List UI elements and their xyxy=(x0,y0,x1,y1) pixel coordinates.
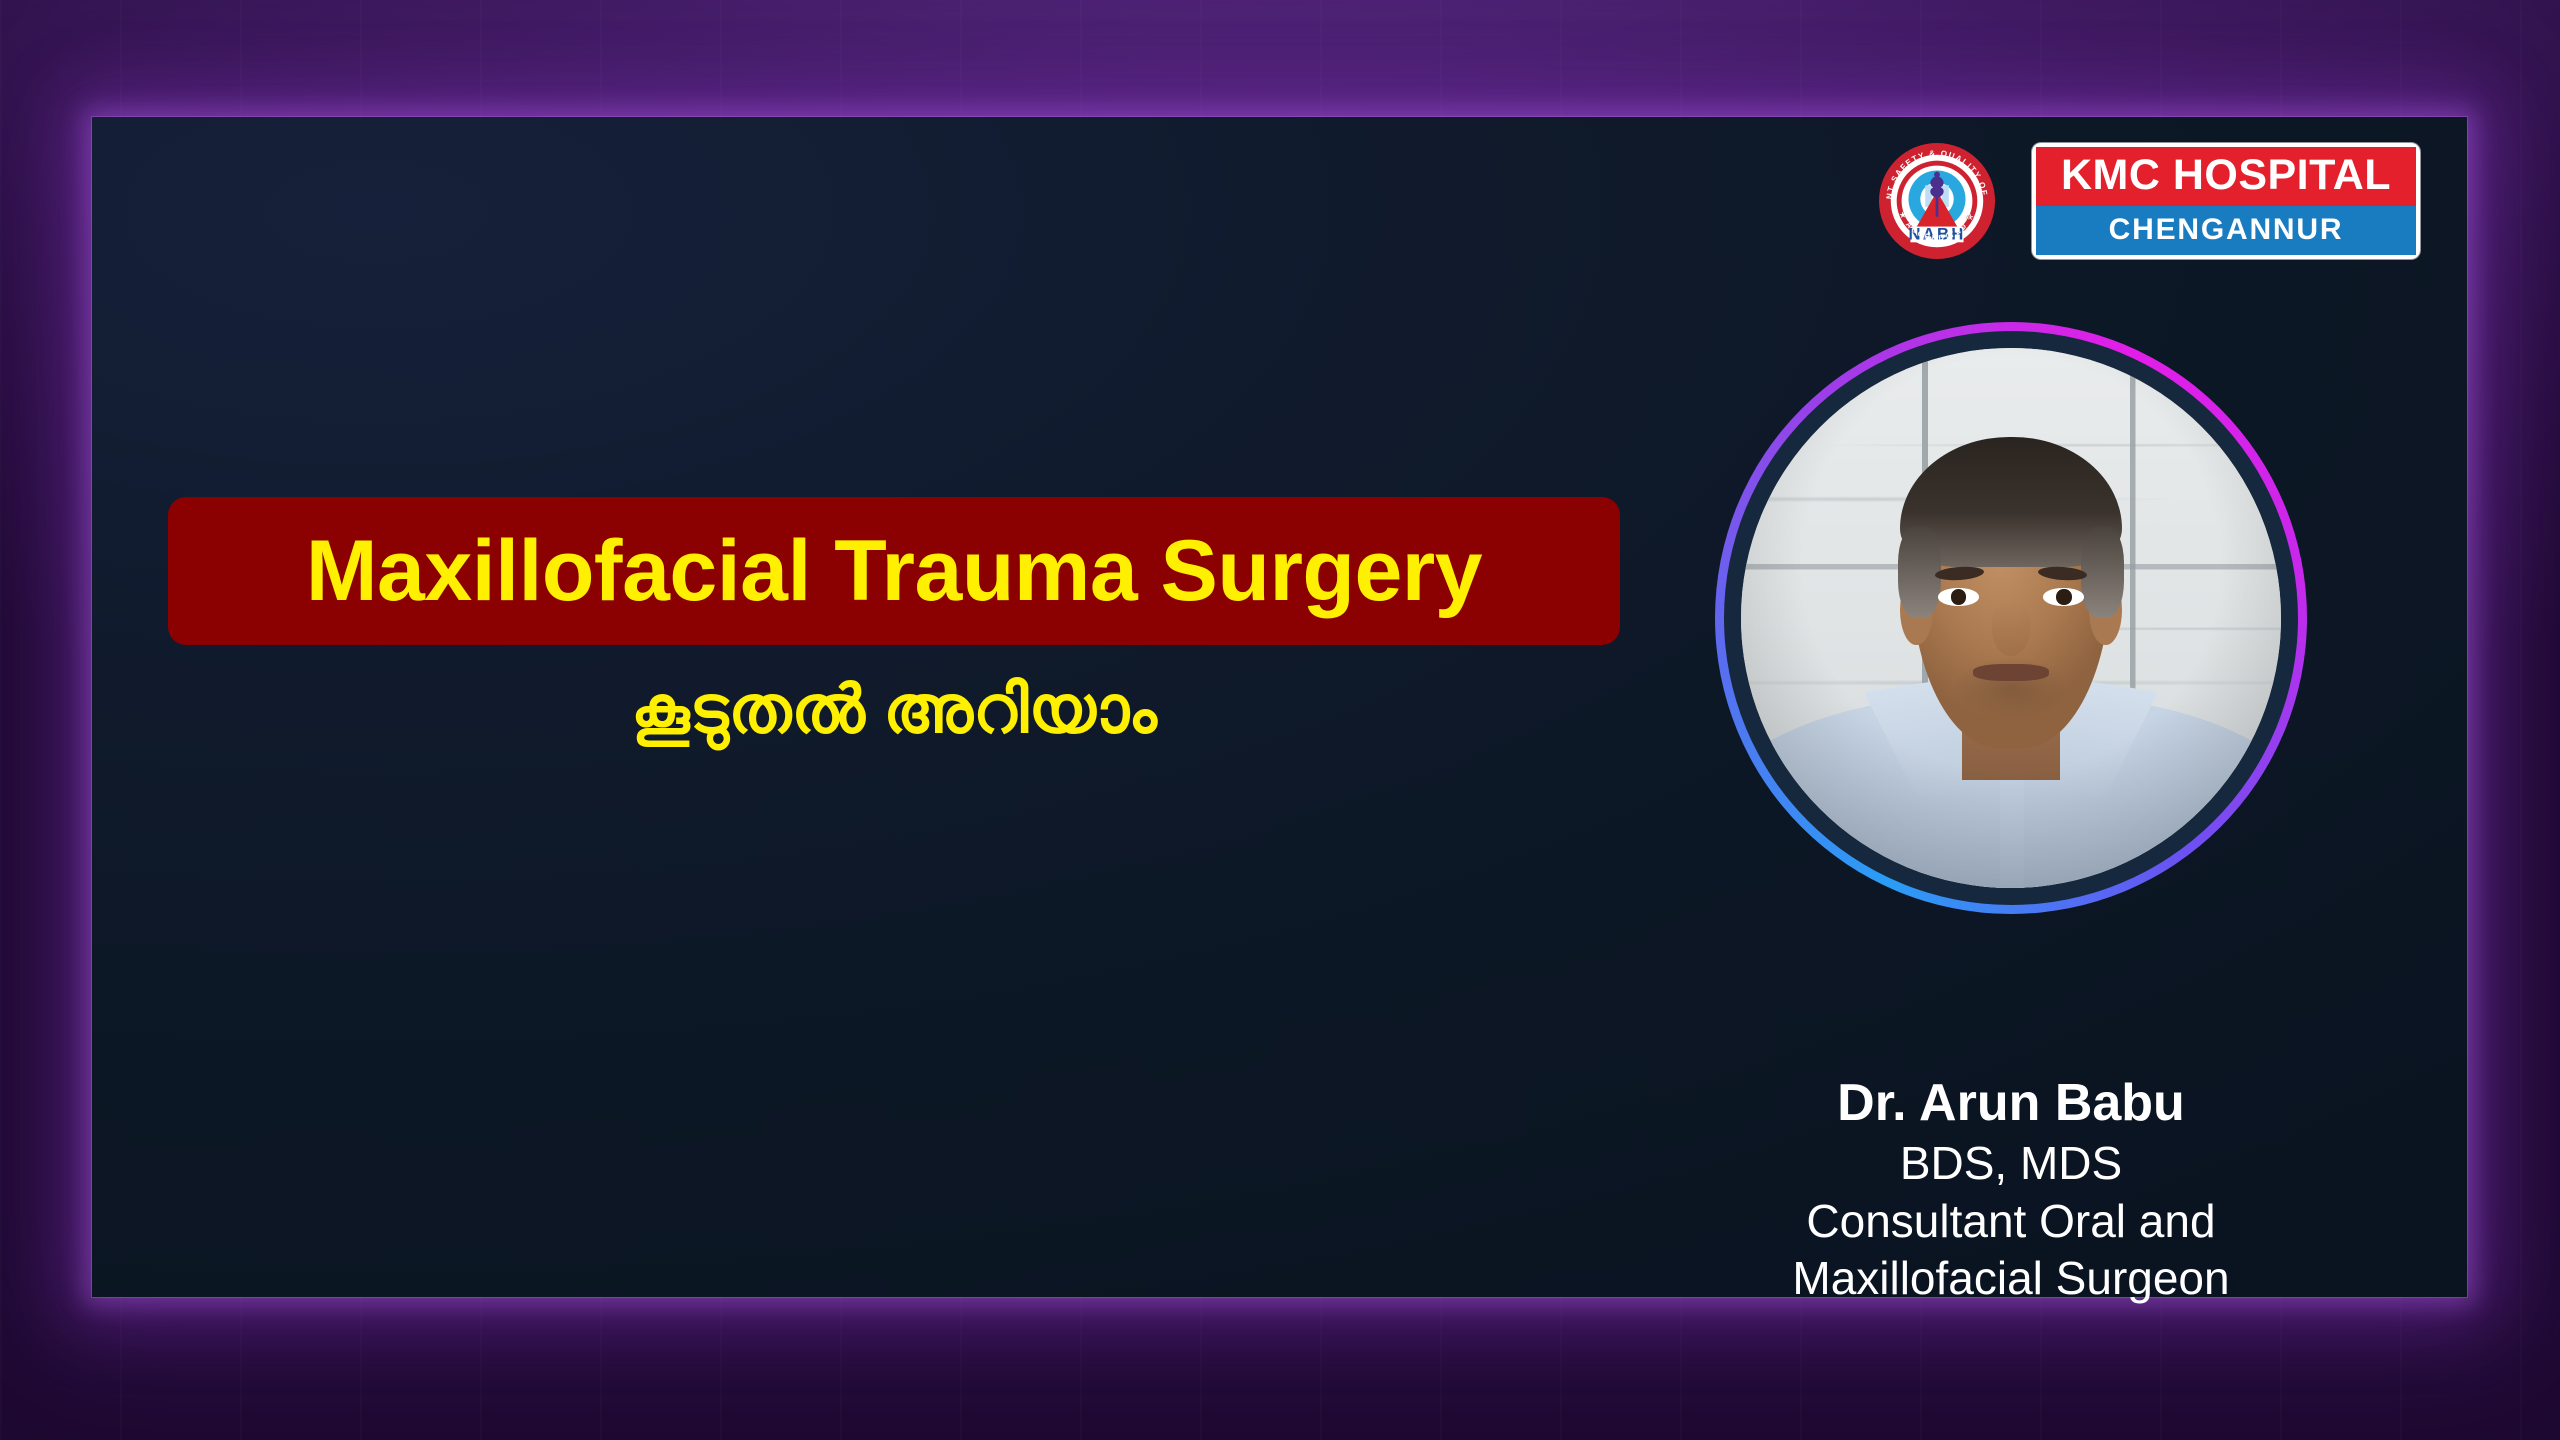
content-panel: NABH PATIENT SAFETY & QUALITY OF CARE ★ … xyxy=(92,117,2467,1297)
svg-text:®: ® xyxy=(1967,215,1972,223)
logo-row: NABH PATIENT SAFETY & QUALITY OF CARE ★ … xyxy=(1878,142,2420,260)
doctor-photo-ring xyxy=(1715,322,2307,914)
kmc-hospital-logo: KMC HOSPITAL CHENGANNUR xyxy=(2032,143,2420,259)
nabh-accreditation-icon: NABH PATIENT SAFETY & QUALITY OF CARE ★ … xyxy=(1878,142,1996,260)
kmc-hospital-branch: CHENGANNUR xyxy=(2036,206,2416,255)
doctor-role-line-1: Consultant Oral and xyxy=(1715,1193,2307,1251)
doctor-degree: BDS, MDS xyxy=(1715,1135,2307,1193)
doctor-info: Dr. Arun Babu BDS, MDS Consultant Oral a… xyxy=(1715,1072,2307,1308)
slide-stage: NABH PATIENT SAFETY & QUALITY OF CARE ★ … xyxy=(0,0,2560,1440)
doctor-role-line-2: Maxillofacial Surgeon xyxy=(1715,1250,2307,1308)
avatar xyxy=(1741,348,2281,888)
title-banner: Maxillofacial Trauma Surgery xyxy=(168,497,1620,645)
kmc-hospital-name: KMC HOSPITAL xyxy=(2036,147,2416,206)
photo-vignette xyxy=(1741,348,2281,888)
page-subtitle: കൂടുതൽ അറിയാം xyxy=(168,673,1620,746)
doctor-name: Dr. Arun Babu xyxy=(1715,1072,2307,1135)
page-title: Maxillofacial Trauma Surgery xyxy=(306,522,1482,621)
doctor-photo-gap xyxy=(1724,331,2298,905)
